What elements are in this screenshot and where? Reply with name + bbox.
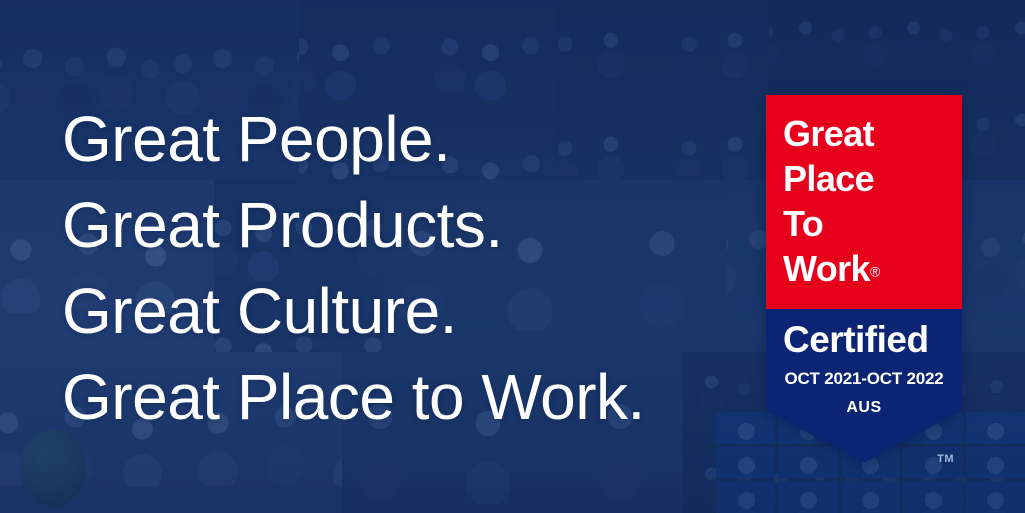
badge-certified-panel: Certified OCT 2021-OCT 2022 AUS: [766, 309, 962, 463]
great-place-to-work-banner: Great People. Great Products. Great Cult…: [0, 0, 1025, 513]
badge-logo-line-3: To: [783, 201, 945, 246]
badge-validity-dates: OCT 2021-OCT 2022: [776, 369, 952, 389]
headline-line-2: Great Products.: [62, 182, 645, 268]
badge-certified-label: Certified: [776, 319, 952, 361]
badge-logo-panel: Great Place To Work®: [766, 95, 962, 309]
badge-logo-line-4: Work®: [783, 246, 945, 295]
registered-trademark-icon: ®: [870, 264, 880, 280]
trademark-icon: TM: [937, 453, 954, 465]
badge-logo-work-text: Work: [783, 248, 870, 289]
headline-block: Great People. Great Products. Great Cult…: [62, 96, 645, 440]
headline-line-1: Great People.: [62, 96, 645, 182]
badge-logo-line-2: Place: [783, 156, 945, 201]
headline-line-4: Great Place to Work.: [62, 354, 645, 440]
badge-logo-line-1: Great: [783, 111, 945, 156]
gptw-certification-badge: Great Place To Work® Certified OCT 2021-…: [766, 95, 962, 463]
badge-region-label: AUS: [776, 399, 952, 417]
headline-line-3: Great Culture.: [62, 268, 645, 354]
